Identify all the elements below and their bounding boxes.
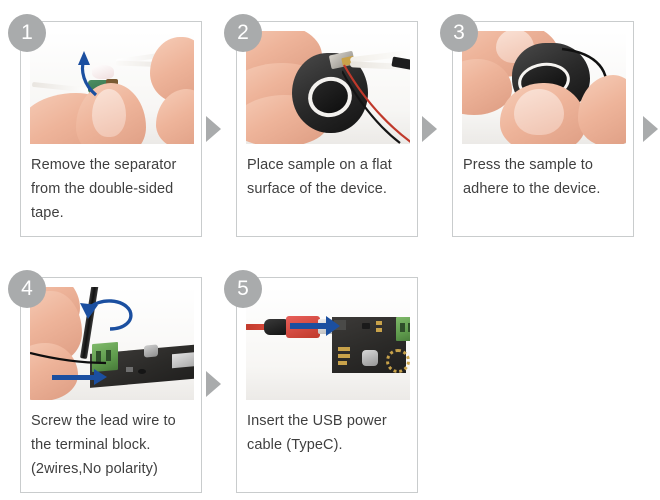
photo-screw-terminal: [30, 287, 194, 400]
step-caption-4: Screw the lead wire to the terminal bloc…: [31, 409, 197, 481]
blue-rotation-arrow-icon: [70, 293, 138, 335]
step-card-5[interactable]: Insert the USB power cable (TypeC).: [236, 277, 418, 493]
step-caption-2: Place sample on a flat surface of the de…: [247, 153, 413, 201]
step-badge-3: 3: [440, 14, 478, 52]
step-badge-2: 2: [224, 14, 262, 52]
step-card-1[interactable]: Remove the separator from the double-sid…: [20, 21, 202, 237]
photo-press-sample: [462, 31, 626, 144]
flow-arrow-1-to-2: [206, 116, 221, 142]
step-caption-1: Remove the separator from the double-sid…: [31, 153, 197, 225]
photo-insert-usb: [246, 287, 410, 400]
step-caption-3: Press the sample to adhere to the device…: [463, 153, 629, 201]
step-badge-5: 5: [224, 270, 262, 308]
blue-up-arrow-icon: [70, 45, 108, 97]
photo-remove-separator: [30, 31, 194, 144]
step-badge-1: 1: [8, 14, 46, 52]
step-card-4[interactable]: Screw the lead wire to the terminal bloc…: [20, 277, 202, 493]
flow-arrow-2-to-3: [422, 116, 437, 142]
step-badge-4: 4: [8, 270, 46, 308]
flow-arrow-4-to-5: [206, 371, 221, 397]
step-caption-5: Insert the USB power cable (TypeC).: [247, 409, 413, 457]
step-card-3[interactable]: Press the sample to adhere to the device…: [452, 21, 634, 237]
photo-place-sample: [246, 31, 410, 144]
instruction-steps-grid: Remove the separator from the double-sid…: [0, 0, 660, 500]
flow-arrow-3-to-4: [643, 116, 658, 142]
step-card-2[interactable]: Place sample on a flat surface of the de…: [236, 21, 418, 237]
